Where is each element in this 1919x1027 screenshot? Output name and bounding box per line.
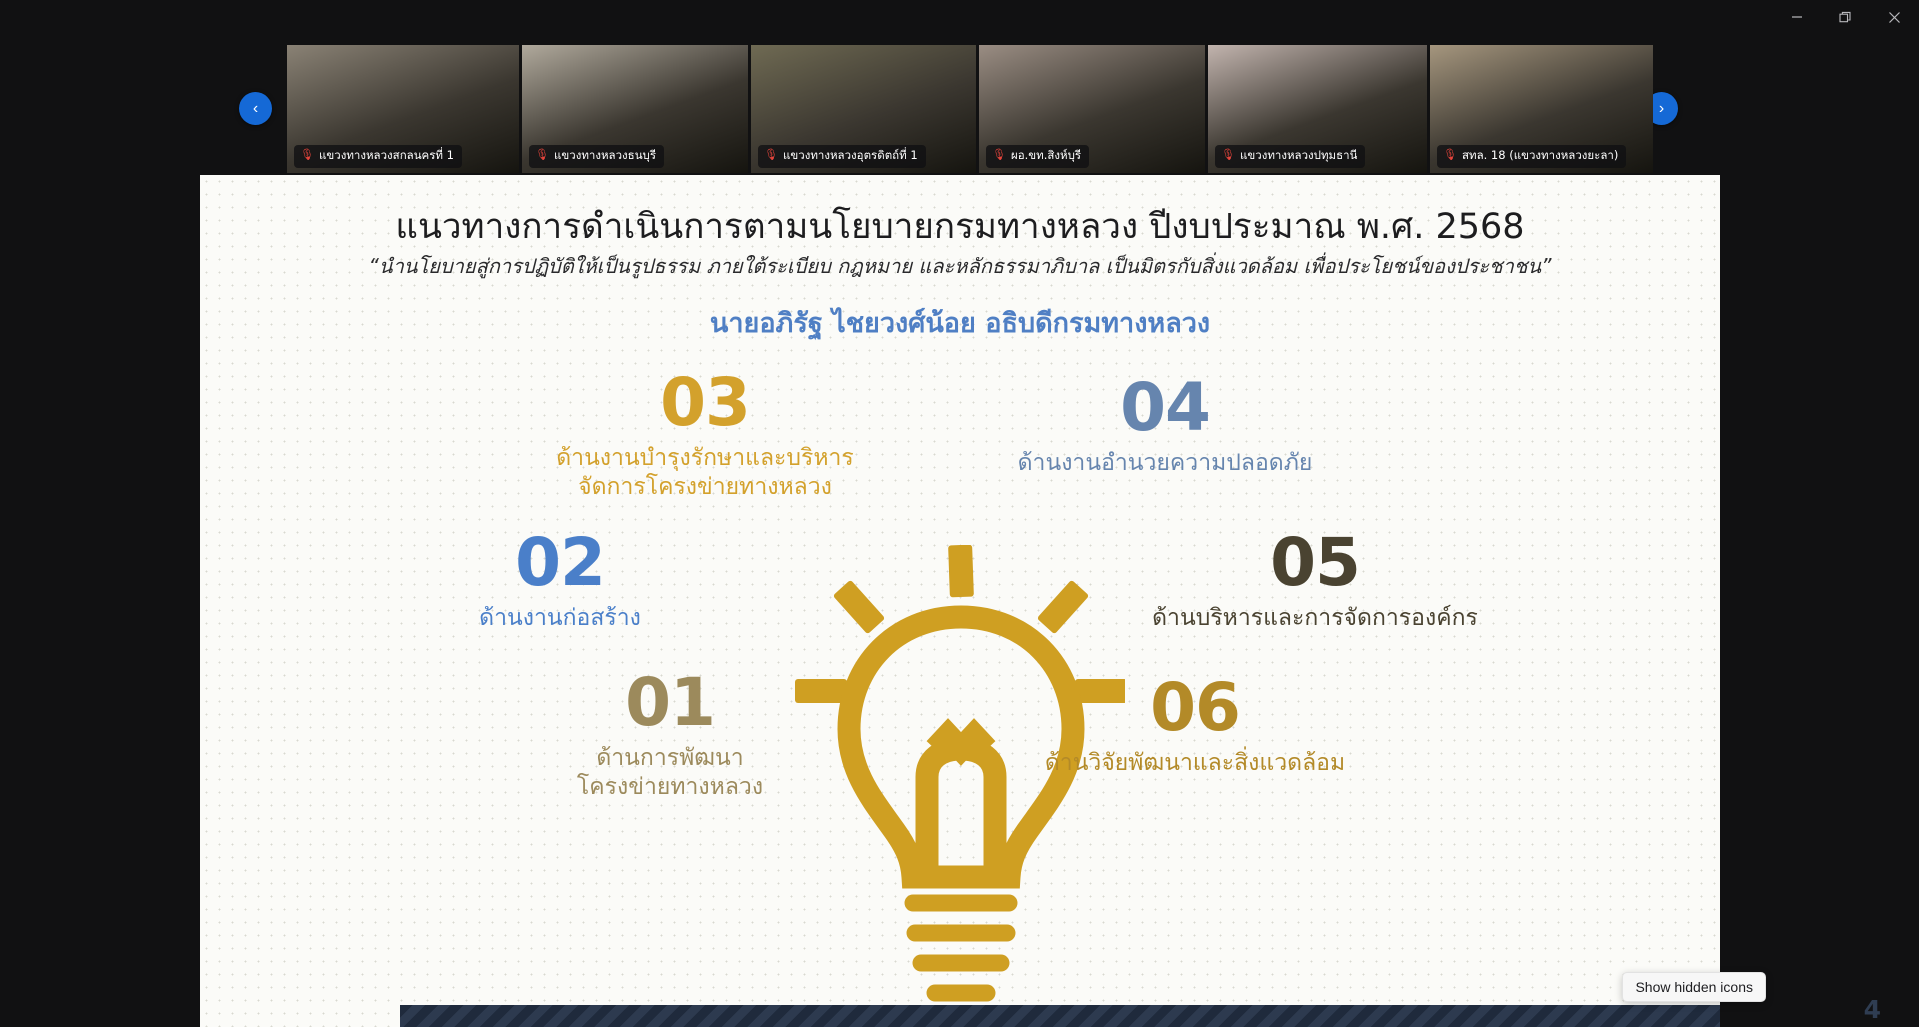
policy-item-number: 04 <box>950 375 1380 441</box>
policy-item-number: 05 <box>1085 530 1545 596</box>
slide-number: 4 <box>1864 995 1881 1024</box>
presentation-window: ‹ › 🎙แขวงทางหลวงสกลนครที่ 1🎙แขวงทางหลวงธ… <box>0 0 1919 1027</box>
participant-name: ผอ.ขท.สิงห์บุรี <box>1011 147 1081 165</box>
participant-label: 🎙แขวงทางหลวงสกลนครที่ 1 <box>294 145 462 168</box>
policy-item-caption: ด้านงานบำรุงรักษาและบริหาร จัดการโครงข่า… <box>510 444 900 502</box>
restore-icon[interactable] <box>1821 0 1870 34</box>
slide-footer-strip <box>400 1005 1720 1027</box>
participant-label: 🎙แขวงทางหลวงปทุมธานี <box>1215 145 1365 168</box>
filmstrip-prev-button[interactable]: ‹ <box>239 92 272 125</box>
policy-item-number: 06 <box>965 675 1425 741</box>
participant-label: 🎙แขวงทางหลวงธนบุรี <box>529 145 664 168</box>
participant-name: แขวงทางหลวงสกลนครที่ 1 <box>319 147 454 165</box>
policy-item-number: 02 <box>425 530 695 596</box>
policy-item-caption: ด้านงานก่อสร้าง <box>425 604 695 633</box>
policy-item-caption: ด้านการพัฒนา โครงข่ายทางหลวง <box>520 744 820 802</box>
slide-subtitle: “นำนโยบายสู่การปฏิบัติให้เป็นรูปธรรม ภาย… <box>200 250 1720 282</box>
participant-label: 🎙แขวงทางหลวงอุตรดิตถ์ที่ 1 <box>758 145 926 168</box>
policy-item-05: 05 ด้านบริหารและการจัดการองค์กร <box>1085 530 1545 633</box>
muted-microphone-icon: 🎙 <box>992 150 1006 161</box>
policy-item-caption: ด้านบริหารและการจัดการองค์กร <box>1085 604 1545 633</box>
slide-title: แนวทางการดำเนินการตามนโยบายกรมทางหลวง ปี… <box>200 199 1720 254</box>
policy-item-02: 02 ด้านงานก่อสร้าง <box>425 530 695 633</box>
slide-speaker-name: นายอภิรัฐ ไชยวงศ์น้อย อธิบดีกรมทางหลวง <box>200 301 1720 344</box>
participant-tile[interactable]: 🎙แขวงทางหลวงสกลนครที่ 1 <box>287 45 519 173</box>
policy-item-number: 03 <box>510 370 900 436</box>
participant-name: แขวงทางหลวงอุตรดิตถ์ที่ 1 <box>783 147 918 165</box>
policy-item-caption: ด้านงานอำนวยความปลอดภัย <box>950 449 1380 478</box>
participant-filmstrip[interactable]: 🎙แขวงทางหลวงสกลนครที่ 1🎙แขวงทางหลวงธนบุร… <box>287 45 1635 173</box>
policy-item-03: 03 ด้านงานบำรุงรักษาและบริหาร จัดการโครง… <box>510 370 900 502</box>
muted-microphone-icon: 🎙 <box>300 150 314 161</box>
participant-label: 🎙สทล. 18 (แขวงทางหลวงยะลา) <box>1437 145 1626 168</box>
minimize-icon[interactable] <box>1772 0 1821 34</box>
participant-name: แขวงทางหลวงปทุมธานี <box>1240 147 1358 165</box>
chevron-left-icon: ‹ <box>253 100 258 118</box>
show-hidden-icons-tooltip: Show hidden icons <box>1622 972 1766 1002</box>
participant-tile[interactable]: 🎙แขวงทางหลวงธนบุรี <box>522 45 748 173</box>
close-icon[interactable] <box>1870 0 1919 34</box>
participant-name: สทล. 18 (แขวงทางหลวงยะลา) <box>1462 147 1618 165</box>
policy-item-number: 01 <box>520 670 820 736</box>
muted-microphone-icon: 🎙 <box>1221 150 1235 161</box>
policy-item-01: 01 ด้านการพัฒนา โครงข่ายทางหลวง <box>520 670 820 802</box>
policy-item-04: 04 ด้านงานอำนวยความปลอดภัย <box>950 375 1380 478</box>
participant-label: 🎙ผอ.ขท.สิงห์บุรี <box>986 145 1089 168</box>
participant-tile[interactable]: 🎙แขวงทางหลวงอุตรดิตถ์ที่ 1 <box>751 45 976 173</box>
muted-microphone-icon: 🎙 <box>535 150 549 161</box>
policy-item-caption: ด้านวิจัยพัฒนาและสิ่งแวดล้อม <box>965 749 1425 778</box>
policy-item-06: 06 ด้านวิจัยพัฒนาและสิ่งแวดล้อม <box>965 675 1425 778</box>
lightbulb-illustration <box>795 545 1125 1015</box>
slide-canvas: แนวทางการดำเนินการตามนโยบายกรมทางหลวง ปี… <box>200 175 1720 1027</box>
participant-tile[interactable]: 🎙แขวงทางหลวงปทุมธานี <box>1208 45 1427 173</box>
participant-tile[interactable]: 🎙สทล. 18 (แขวงทางหลวงยะลา) <box>1430 45 1653 173</box>
muted-microphone-icon: 🎙 <box>1443 150 1457 161</box>
participant-name: แขวงทางหลวงธนบุรี <box>554 147 656 165</box>
window-titlebar <box>0 0 1919 40</box>
muted-microphone-icon: 🎙 <box>764 150 778 161</box>
chevron-right-icon: › <box>1659 100 1664 118</box>
participant-tile[interactable]: 🎙ผอ.ขท.สิงห์บุรี <box>979 45 1205 173</box>
